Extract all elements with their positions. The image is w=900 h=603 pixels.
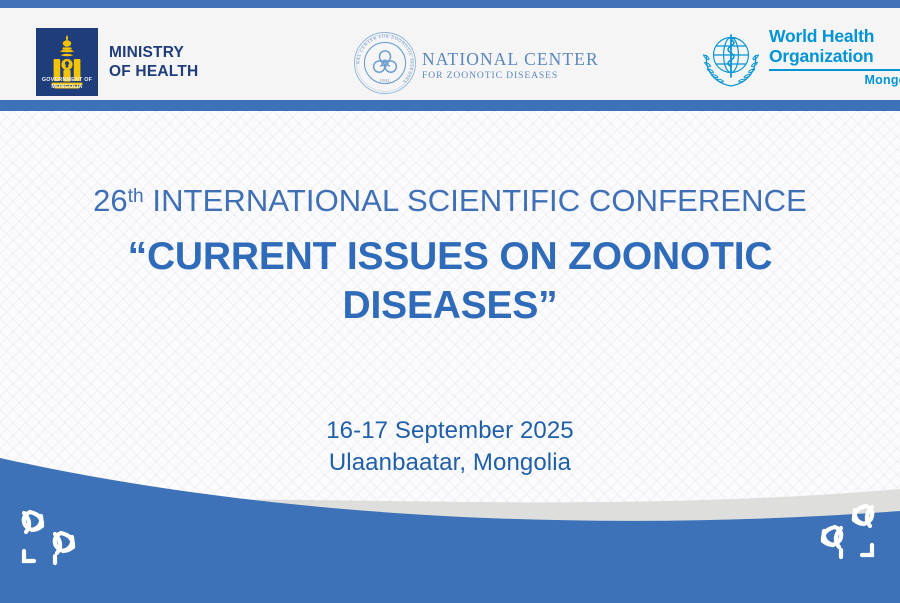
conference-number: 26 bbox=[93, 183, 128, 218]
bottom-wave-decoration bbox=[0, 453, 900, 603]
national-center-zoonotic-diseases-logo: NATIONAL CENTER FOR ZOONOTIC DISEASES 19… bbox=[352, 30, 599, 101]
who-name-line1: World Health bbox=[769, 26, 900, 46]
conference-ordinal: th bbox=[128, 186, 144, 207]
who-country-label: Mongolia bbox=[769, 73, 900, 87]
ministry-emblem-caption-line1: GOVERNMENT OF bbox=[36, 77, 98, 84]
event-date: 16-17 September 2025 bbox=[0, 415, 900, 447]
ministry-of-health-name: MINISTRY OF HEALTH bbox=[109, 43, 198, 81]
wave-blue-layer bbox=[0, 458, 900, 603]
conference-poster-slide: GOVERNMENT OF MONGOLIA MINISTRY OF HEALT… bbox=[0, 0, 900, 603]
who-name-block: World Health Organization Mongolia bbox=[769, 26, 900, 87]
conference-heading: 26th INTERNATIONAL SCIENTIFIC CONFERENCE bbox=[0, 178, 900, 220]
title-block: 26th INTERNATIONAL SCIENTIFIC CONFERENCE… bbox=[0, 178, 900, 330]
nczd-name-line2: FOR ZOONOTIC DISEASES bbox=[422, 69, 599, 82]
mongolian-soyombo-emblem-icon: GOVERNMENT OF MONGOLIA bbox=[36, 28, 98, 96]
who-underline-rule bbox=[769, 69, 900, 71]
mongolian-ulzii-knot-ornament-icon bbox=[14, 499, 92, 571]
logo-header-band: GOVERNMENT OF MONGOLIA MINISTRY OF HEALT… bbox=[0, 8, 900, 100]
ministry-emblem-caption: GOVERNMENT OF MONGOLIA bbox=[36, 77, 98, 91]
ministry-name-line1: MINISTRY bbox=[109, 43, 198, 62]
header-divider-band bbox=[0, 100, 900, 111]
ministry-of-health-logo: GOVERNMENT OF MONGOLIA MINISTRY OF HEALT… bbox=[36, 28, 198, 96]
nczd-name-line1: NATIONAL CENTER bbox=[422, 49, 599, 69]
page-title: “CURRENT ISSUES ON ZOONOTIC DISEASES” bbox=[0, 232, 900, 330]
who-emblem-icon bbox=[700, 26, 762, 95]
svg-text:1931: 1931 bbox=[380, 78, 391, 83]
who-mongolia-logo: World Health Organization Mongolia bbox=[700, 26, 900, 95]
mongolian-ulzii-knot-ornament-mirrored-icon bbox=[804, 493, 882, 565]
conference-label: INTERNATIONAL SCIENTIFIC CONFERENCE bbox=[152, 183, 807, 218]
who-name-line2: Organization bbox=[769, 46, 900, 66]
nczd-seal-icon: NATIONAL CENTER FOR ZOONOTIC DISEASES 19… bbox=[352, 30, 418, 101]
top-accent-strip bbox=[0, 0, 900, 8]
ministry-emblem-caption-line2: MONGOLIA bbox=[36, 84, 98, 91]
ministry-name-line2: OF HEALTH bbox=[109, 62, 198, 81]
nczd-name: NATIONAL CENTER FOR ZOONOTIC DISEASES bbox=[422, 49, 599, 82]
